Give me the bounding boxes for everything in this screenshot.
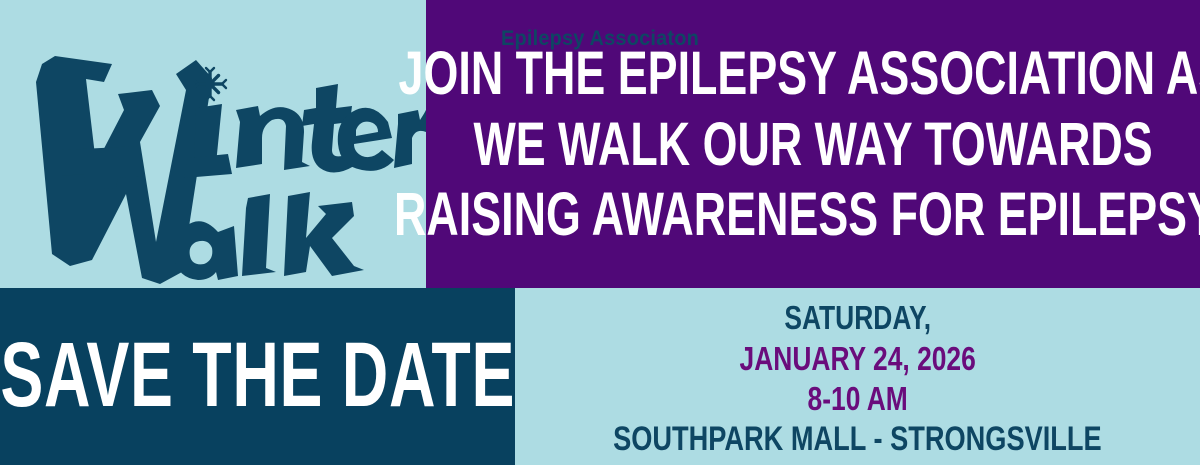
event-time: 8-10 AM	[807, 379, 907, 419]
save-the-date-block: SAVE THE DATE	[0, 288, 515, 465]
event-details-block: SATURDAY, JANUARY 24, 2026 8-10 AM SOUTH…	[515, 288, 1200, 465]
headline-line-2: WE WALK OUR WAY TOWARDS	[473, 109, 1152, 180]
event-location: SOUTHPARK MALL - STRONGSVILLE	[613, 419, 1102, 460]
headline-line-1: JOIN THE EPILEPSY ASSOCIATION AS	[398, 38, 1200, 109]
event-day: SATURDAY,	[784, 298, 931, 338]
winter-walk-save-the-date-banner: Epilepsy Associaton	[0, 0, 1200, 465]
headline-line-3: RAISING AWARENESS FOR EPILEPSY!	[394, 179, 1200, 250]
winter-walk-wordmark	[0, 46, 426, 286]
headline-text-block: JOIN THE EPILEPSY ASSOCIATION AS WE WALK…	[426, 0, 1200, 288]
save-the-date-label: SAVE THE DATE	[0, 329, 515, 425]
event-date: JANUARY 24, 2026	[739, 339, 975, 379]
